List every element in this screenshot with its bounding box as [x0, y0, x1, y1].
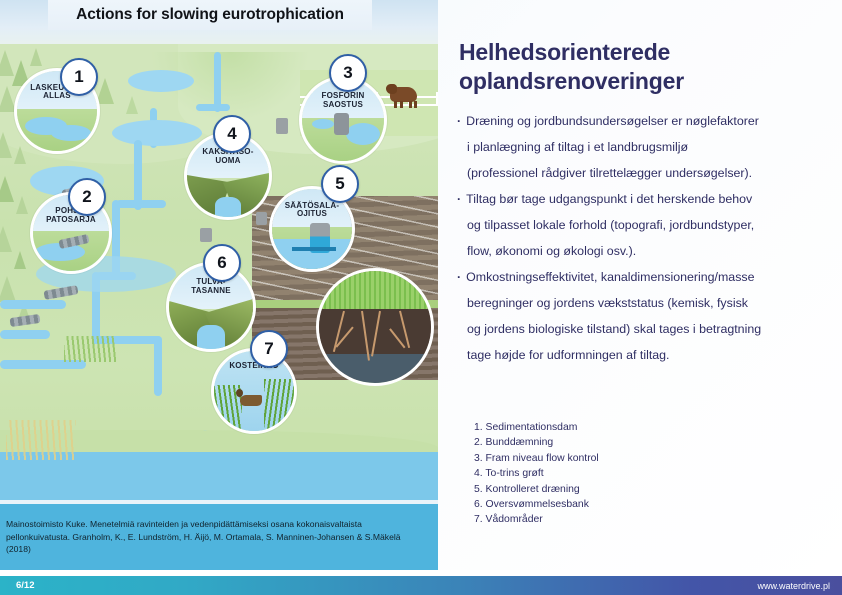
website-url[interactable]: www.waterdrive.pl — [757, 581, 830, 591]
river-left-edge — [0, 300, 66, 309]
illustration-title: Actions for slowing eurotrophication — [76, 6, 344, 24]
reeds — [64, 336, 116, 362]
callout-number-5[interactable]: 5 — [321, 165, 359, 203]
callout-number-1[interactable]: 1 — [60, 58, 98, 96]
soil-cross-section-circle — [316, 268, 434, 386]
bullet-line: og jordens biologiske tilstand) skal tag… — [457, 316, 837, 342]
illustration-panel: LASKEUTUS- ALLAS 1 POHJA- PATOSARJA 2 FO… — [0, 0, 438, 570]
callout-number-7[interactable]: 7 — [250, 330, 288, 368]
legend-item: 5. Kontrolleret dræning — [474, 482, 599, 497]
illustration-title-band: Actions for slowing eurotrophication — [48, 0, 372, 30]
heading-line-1: Helhedsorienterede — [459, 38, 819, 67]
citation-band: Mainostoimisto Kuke. Menetelmiä ravintei… — [0, 504, 438, 570]
callout-6-label: TULVA- TASANNE — [169, 278, 253, 295]
legend-list: 1. Sedimentationsdam 2. Bunddæmning 3. F… — [474, 420, 599, 528]
tree-standalone — [126, 96, 138, 114]
callout-5-label: SÄÄTÖSALA- OJITUS — [272, 202, 352, 219]
legend-item: 7. Vådområder — [474, 512, 599, 527]
legend-item: 1. Sedimentationsdam — [474, 420, 599, 435]
page-number: 6/12 — [16, 580, 35, 591]
duck-head — [236, 389, 243, 397]
wetland-grass-right — [264, 379, 294, 431]
pond-mid — [128, 70, 194, 92]
river-upper-bend — [196, 104, 230, 111]
bullet-line: i planlægning af tiltag i et landbrugsmi… — [457, 134, 837, 160]
bullet-line: (professionel rådgiver tilrettelægger un… — [457, 160, 837, 186]
bullet-list: Dræning og jordbundsundersøgelser er nøg… — [457, 108, 837, 368]
legend-item: 3. Fram niveau flow kontrol — [474, 451, 599, 466]
bullet-line: beregninger og jordens vækststatus (kemi… — [457, 290, 837, 316]
callout-number-6[interactable]: 6 — [203, 244, 241, 282]
legend-item: 6. Oversvømmelsesbank — [474, 497, 599, 512]
duck-icon — [240, 395, 262, 406]
river-left-edge2 — [0, 330, 50, 339]
bullet-line: Omkostningseffektivitet, kanaldimensione… — [457, 264, 837, 290]
callout-3-label: FOSFORIN SAOSTUS — [302, 92, 384, 109]
citation-text: Mainostoimisto Kuke. Menetelmiä ravintei… — [6, 518, 426, 555]
bullet-line: Dræning og jordbundsundersøgelser er nøg… — [457, 108, 837, 134]
bullet-line: tage højde for udformningen af tiltag. — [457, 342, 837, 368]
bullet-item: Tiltag bør tage udgangspunkt i det hersk… — [457, 186, 837, 264]
bullet-line: og tilpasset lokale forhold (topografi, … — [457, 212, 837, 238]
footer-bar: 6/12 www.waterdrive.pl — [0, 576, 842, 595]
drain-structure — [276, 118, 288, 134]
legend-item: 4. To-trins grøft — [474, 466, 599, 481]
bullet-item: Dræning og jordbundsundersøgelser er nøg… — [457, 108, 837, 186]
drain-pipe — [292, 247, 336, 251]
river-lower-bend — [116, 200, 166, 208]
callout-7-label: KOSTEIKKO — [214, 362, 294, 370]
callout-number-2[interactable]: 2 — [68, 178, 106, 216]
legend-item: 2. Bunddæmning — [474, 435, 599, 450]
callout-number-4[interactable]: 4 — [213, 115, 251, 153]
callout-number-3[interactable]: 3 — [329, 54, 367, 92]
river-upper — [214, 52, 221, 112]
content-panel: Helhedsorienterede oplandsrenoveringer D… — [452, 0, 842, 570]
bullet-line: flow, økonomi og økologi osv.). — [457, 238, 837, 264]
bullet-item: Omkostningseffektivitet, kanaldimensione… — [457, 264, 837, 368]
bullet-line: Tiltag bør tage udgangspunkt i det hersk… — [457, 186, 837, 212]
river-lower-5 — [154, 336, 162, 396]
heading-line-2: oplandsrenoveringer — [459, 67, 819, 96]
page-title: Helhedsorienterede oplandsrenoveringer — [459, 38, 819, 97]
reeds — [6, 420, 76, 460]
fence-post — [436, 92, 438, 106]
slide-root: LASKEUTUS- ALLAS 1 POHJA- PATOSARJA 2 FO… — [0, 0, 842, 595]
tank-icon — [334, 113, 349, 135]
cow-illustration — [386, 82, 420, 106]
drain-structure — [200, 228, 212, 242]
